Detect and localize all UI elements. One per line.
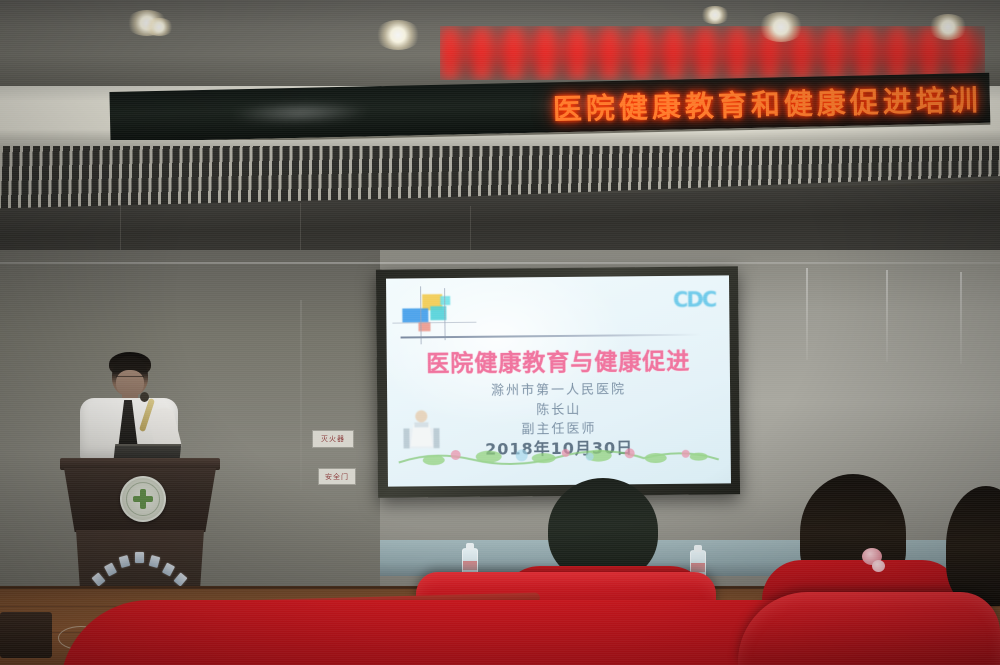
wall-seam-3 (960, 272, 962, 364)
ceiling-spotlight-2 (144, 18, 174, 36)
wall-seam-2 (886, 270, 888, 362)
podium-text-char-1 (92, 572, 106, 586)
slide-subtitle-hospital: 滁州市第一人民医院 (387, 377, 730, 399)
podium-text-char-4 (135, 552, 144, 563)
podium-text-char-5 (149, 555, 161, 568)
pink-hair-clip-small (872, 560, 885, 572)
fire-extinguisher-sign: 灭火器 (312, 430, 354, 448)
podium-hospital-emblem (120, 476, 166, 522)
floor-speaker-box (0, 612, 52, 658)
red-led-backdrop-banner (440, 26, 985, 80)
baffle-seam-2 (300, 203, 301, 255)
slide-decoration-squares (400, 292, 476, 341)
cdc-logo: CDC (673, 287, 715, 311)
baffle-seam-1 (120, 200, 121, 252)
led-banner-text: 医院健康教育和健康促进培训 (552, 77, 982, 128)
deco-square-blue (402, 308, 428, 322)
bottle-label-2 (691, 563, 705, 572)
floral-border-ornament (394, 441, 724, 470)
podium-emblem-cross-icon (133, 489, 153, 509)
wall-seam-1 (806, 268, 808, 360)
deco-hline-1 (392, 322, 476, 324)
podium-text-char-7 (174, 572, 188, 586)
speaker-glasses (116, 376, 144, 382)
audience-seat-right (738, 592, 1000, 665)
podium-front-arched-text (94, 552, 186, 586)
ceiling-spotlight-4 (758, 12, 804, 42)
podium-text-char-6 (162, 563, 175, 577)
podium-text-char-3 (119, 555, 131, 568)
red-led-text (440, 26, 985, 80)
emergency-exit-sign: 安全门 (318, 468, 356, 485)
led-sign-reflection-1 (230, 100, 370, 125)
microphone-head (140, 392, 149, 402)
bottle-label-1 (463, 561, 477, 570)
ceiling-spotlight-3 (375, 20, 421, 50)
projection-screen-surface[interactable]: CDC 医院健康教育与健康促进 滁州市第一人民医院 陈长山 副主任医师 2018… (386, 275, 731, 486)
podium-text-char-2 (104, 563, 117, 577)
speaker-face (116, 370, 144, 396)
ceiling-spotlight-7 (700, 6, 730, 24)
wall-horizontal-joint (0, 262, 1000, 264)
wall-seam-4 (300, 300, 302, 490)
slide-title: 医院健康教育与健康促进 (387, 341, 730, 378)
ceiling-spotlight-5 (928, 14, 968, 40)
conference-hall-photo: 医院健康教育和健康促进培训 灭火器 安全门 (0, 0, 1000, 665)
projection-screen-frame: CDC 医院健康教育与健康促进 滁州市第一人民医院 陈长山 副主任医师 2018… (376, 266, 740, 497)
